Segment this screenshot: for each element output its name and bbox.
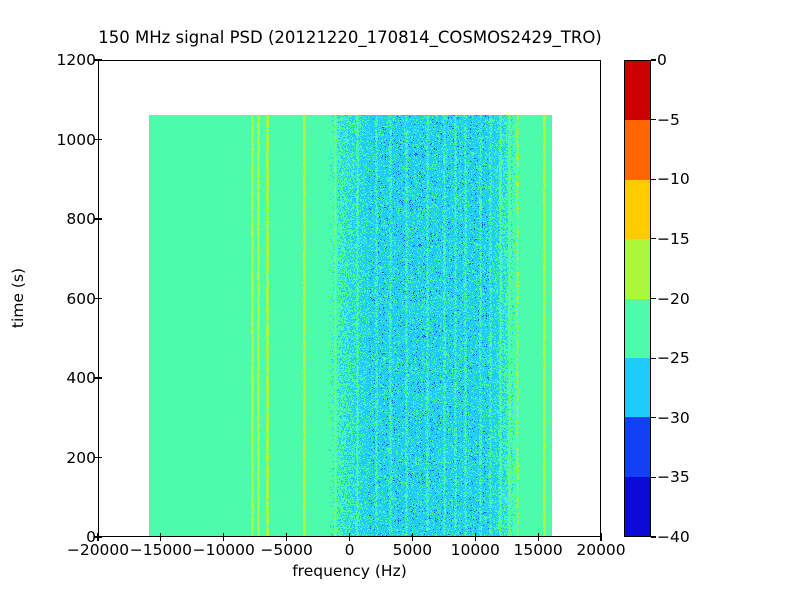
colorbar-tick-label: −40 — [657, 528, 690, 546]
y-tick-inner — [98, 139, 102, 140]
y-tick-inner — [98, 457, 102, 458]
y-tick-label: 1000 — [57, 131, 96, 149]
colorbar-band — [625, 417, 650, 476]
y-tick-inner — [98, 536, 102, 537]
y-tick-inner — [98, 218, 102, 219]
x-tick-inner — [412, 533, 413, 537]
colorbar-tick — [651, 179, 656, 180]
colorbar-tick — [651, 477, 656, 478]
x-tick-inner — [160, 533, 161, 537]
colorbar-tick-label: −15 — [657, 230, 690, 248]
colorbar-tick — [651, 298, 656, 299]
y-tick-label: 200 — [66, 449, 96, 467]
colorbar-tick-label: −5 — [657, 111, 680, 129]
colorbar — [624, 60, 651, 537]
colorbar-band — [625, 299, 650, 358]
y-tick-inner — [98, 377, 102, 378]
colorbar-tick — [651, 417, 656, 418]
y-tick-label: 400 — [66, 369, 96, 387]
y-tick-label: 800 — [66, 210, 96, 228]
colorbar-tick — [651, 358, 656, 359]
x-tick-label: 20000 — [576, 541, 625, 559]
x-tick-inner — [223, 533, 224, 537]
x-tick-label: −15000 — [130, 541, 192, 559]
colorbar-band — [625, 239, 650, 298]
y-tick-label: 600 — [66, 290, 96, 308]
figure-canvas: 150 MHz signal PSD (20121220_170814_COSM… — [0, 0, 800, 600]
colorbar-band — [625, 358, 650, 417]
colorbar-band — [625, 180, 650, 239]
colorbar-band — [625, 61, 650, 120]
colorbar-tick-label: −35 — [657, 468, 690, 486]
x-tick-inner — [349, 533, 350, 537]
colorbar-tick — [651, 536, 656, 537]
y-tick-inner — [98, 298, 102, 299]
colorbar-tick — [651, 119, 656, 120]
x-tick-label: −20000 — [67, 541, 129, 559]
colorbar-band — [625, 477, 650, 536]
colorbar-tick — [651, 59, 656, 60]
x-tick-label: 15000 — [513, 541, 562, 559]
colorbar-tick-label: −25 — [657, 349, 690, 367]
x-tick-label: 0 — [345, 541, 355, 559]
y-tick-inner — [98, 59, 102, 60]
x-tick-label: 5000 — [393, 541, 432, 559]
x-tick-inner — [286, 533, 287, 537]
x-tick-inner — [538, 533, 539, 537]
x-tick-label: −10000 — [193, 541, 255, 559]
colorbar-tick-label: −20 — [657, 290, 690, 308]
spectrogram-axes — [98, 60, 601, 537]
colorbar-tick-label: 0 — [657, 51, 667, 69]
x-tick-label: −5000 — [260, 541, 312, 559]
x-tick-label: 10000 — [451, 541, 500, 559]
colorbar-tick-label: −10 — [657, 170, 690, 188]
page-title: 150 MHz signal PSD (20121220_170814_COSM… — [0, 28, 700, 48]
x-axis-label: frequency (Hz) — [98, 562, 601, 580]
spectrogram-image — [99, 61, 601, 537]
x-tick-inner — [600, 533, 601, 537]
x-tick-inner — [475, 533, 476, 537]
y-tick-label: 1200 — [57, 51, 96, 69]
y-axis-label: time (s) — [9, 268, 27, 328]
colorbar-tick-label: −30 — [657, 409, 690, 427]
y-tick-label: 0 — [86, 528, 96, 546]
colorbar-band — [625, 120, 650, 179]
colorbar-tick — [651, 238, 656, 239]
